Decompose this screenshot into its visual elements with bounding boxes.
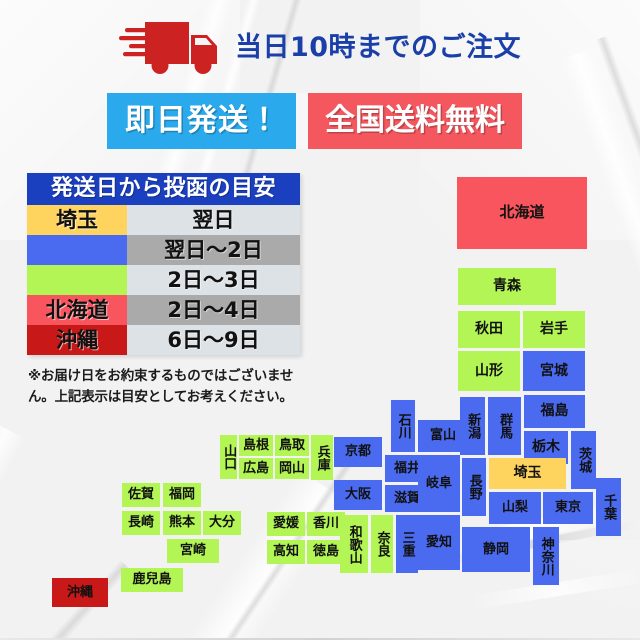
prefecture-埼玉: 埼玉 <box>489 458 566 489</box>
prefecture-岡山: 岡山 <box>275 458 309 479</box>
prefecture-北海道: 北海道 <box>457 177 587 249</box>
prefecture-福岡: 福岡 <box>163 483 201 507</box>
prefecture-福島: 福島 <box>524 395 585 428</box>
prefecture-京都: 京都 <box>334 437 382 467</box>
prefecture-山梨: 山梨 <box>489 492 541 524</box>
prefecture-宮城: 宮城 <box>523 351 585 391</box>
prefecture-高知: 高知 <box>267 540 305 564</box>
prefecture-鳥取: 鳥取 <box>275 435 309 456</box>
prefecture-富山: 富山 <box>418 420 468 452</box>
prefecture-千葉: 千葉 <box>596 478 621 536</box>
prefecture-鹿兒島: 鹿兒島 <box>121 568 183 592</box>
prefecture-岐阜: 岐阜 <box>418 455 460 512</box>
prefecture-秋田: 秋田 <box>458 311 520 348</box>
prefecture-島根: 島根 <box>239 435 273 456</box>
prefecture-東京: 東京 <box>543 492 593 524</box>
shipping-infographic: 当日10時までのご注文 即日発送！ 全国送料無料 発送日から投函の目安 埼玉翌日… <box>0 0 640 640</box>
japan-prefecture-map: 北海道青森秋田岩手山形宮城福島栃木茨城新潟群馬石川富山長野埼玉千葉山梨東京静岡神… <box>0 0 640 640</box>
prefecture-大分: 大分 <box>203 511 241 535</box>
prefecture-茨城: 茨城 <box>571 431 596 489</box>
prefecture-香川: 香川 <box>307 512 345 536</box>
prefecture-奈良: 奈良 <box>371 515 393 573</box>
prefecture-長崎: 長崎 <box>122 511 160 535</box>
prefecture-山口: 山口 <box>220 435 237 479</box>
prefecture-青森: 青森 <box>458 268 556 305</box>
prefecture-徳島: 徳島 <box>307 540 345 564</box>
prefecture-宮崎: 宮崎 <box>167 539 219 563</box>
prefecture-群馬: 群馬 <box>488 397 521 455</box>
prefecture-三重: 三重 <box>396 515 418 573</box>
prefecture-岩手: 岩手 <box>523 311 585 348</box>
prefecture-佐賀: 佐賀 <box>122 483 160 507</box>
prefecture-沖縄: 沖縄 <box>52 578 108 607</box>
prefecture-愛知: 愛知 <box>418 515 460 570</box>
prefecture-長野: 長野 <box>462 458 486 516</box>
prefecture-山形: 山形 <box>458 351 520 391</box>
prefecture-熊本: 熊本 <box>163 511 201 535</box>
prefecture-大阪: 大阪 <box>334 480 382 510</box>
prefecture-広島: 広島 <box>239 458 273 479</box>
prefecture-石川: 石川 <box>391 400 415 452</box>
prefecture-兵庫: 兵庫 <box>311 435 333 480</box>
prefecture-神奈川: 神奈川 <box>533 527 559 585</box>
prefecture-愛媛: 愛媛 <box>267 512 305 536</box>
prefecture-静岡: 静岡 <box>462 527 530 572</box>
